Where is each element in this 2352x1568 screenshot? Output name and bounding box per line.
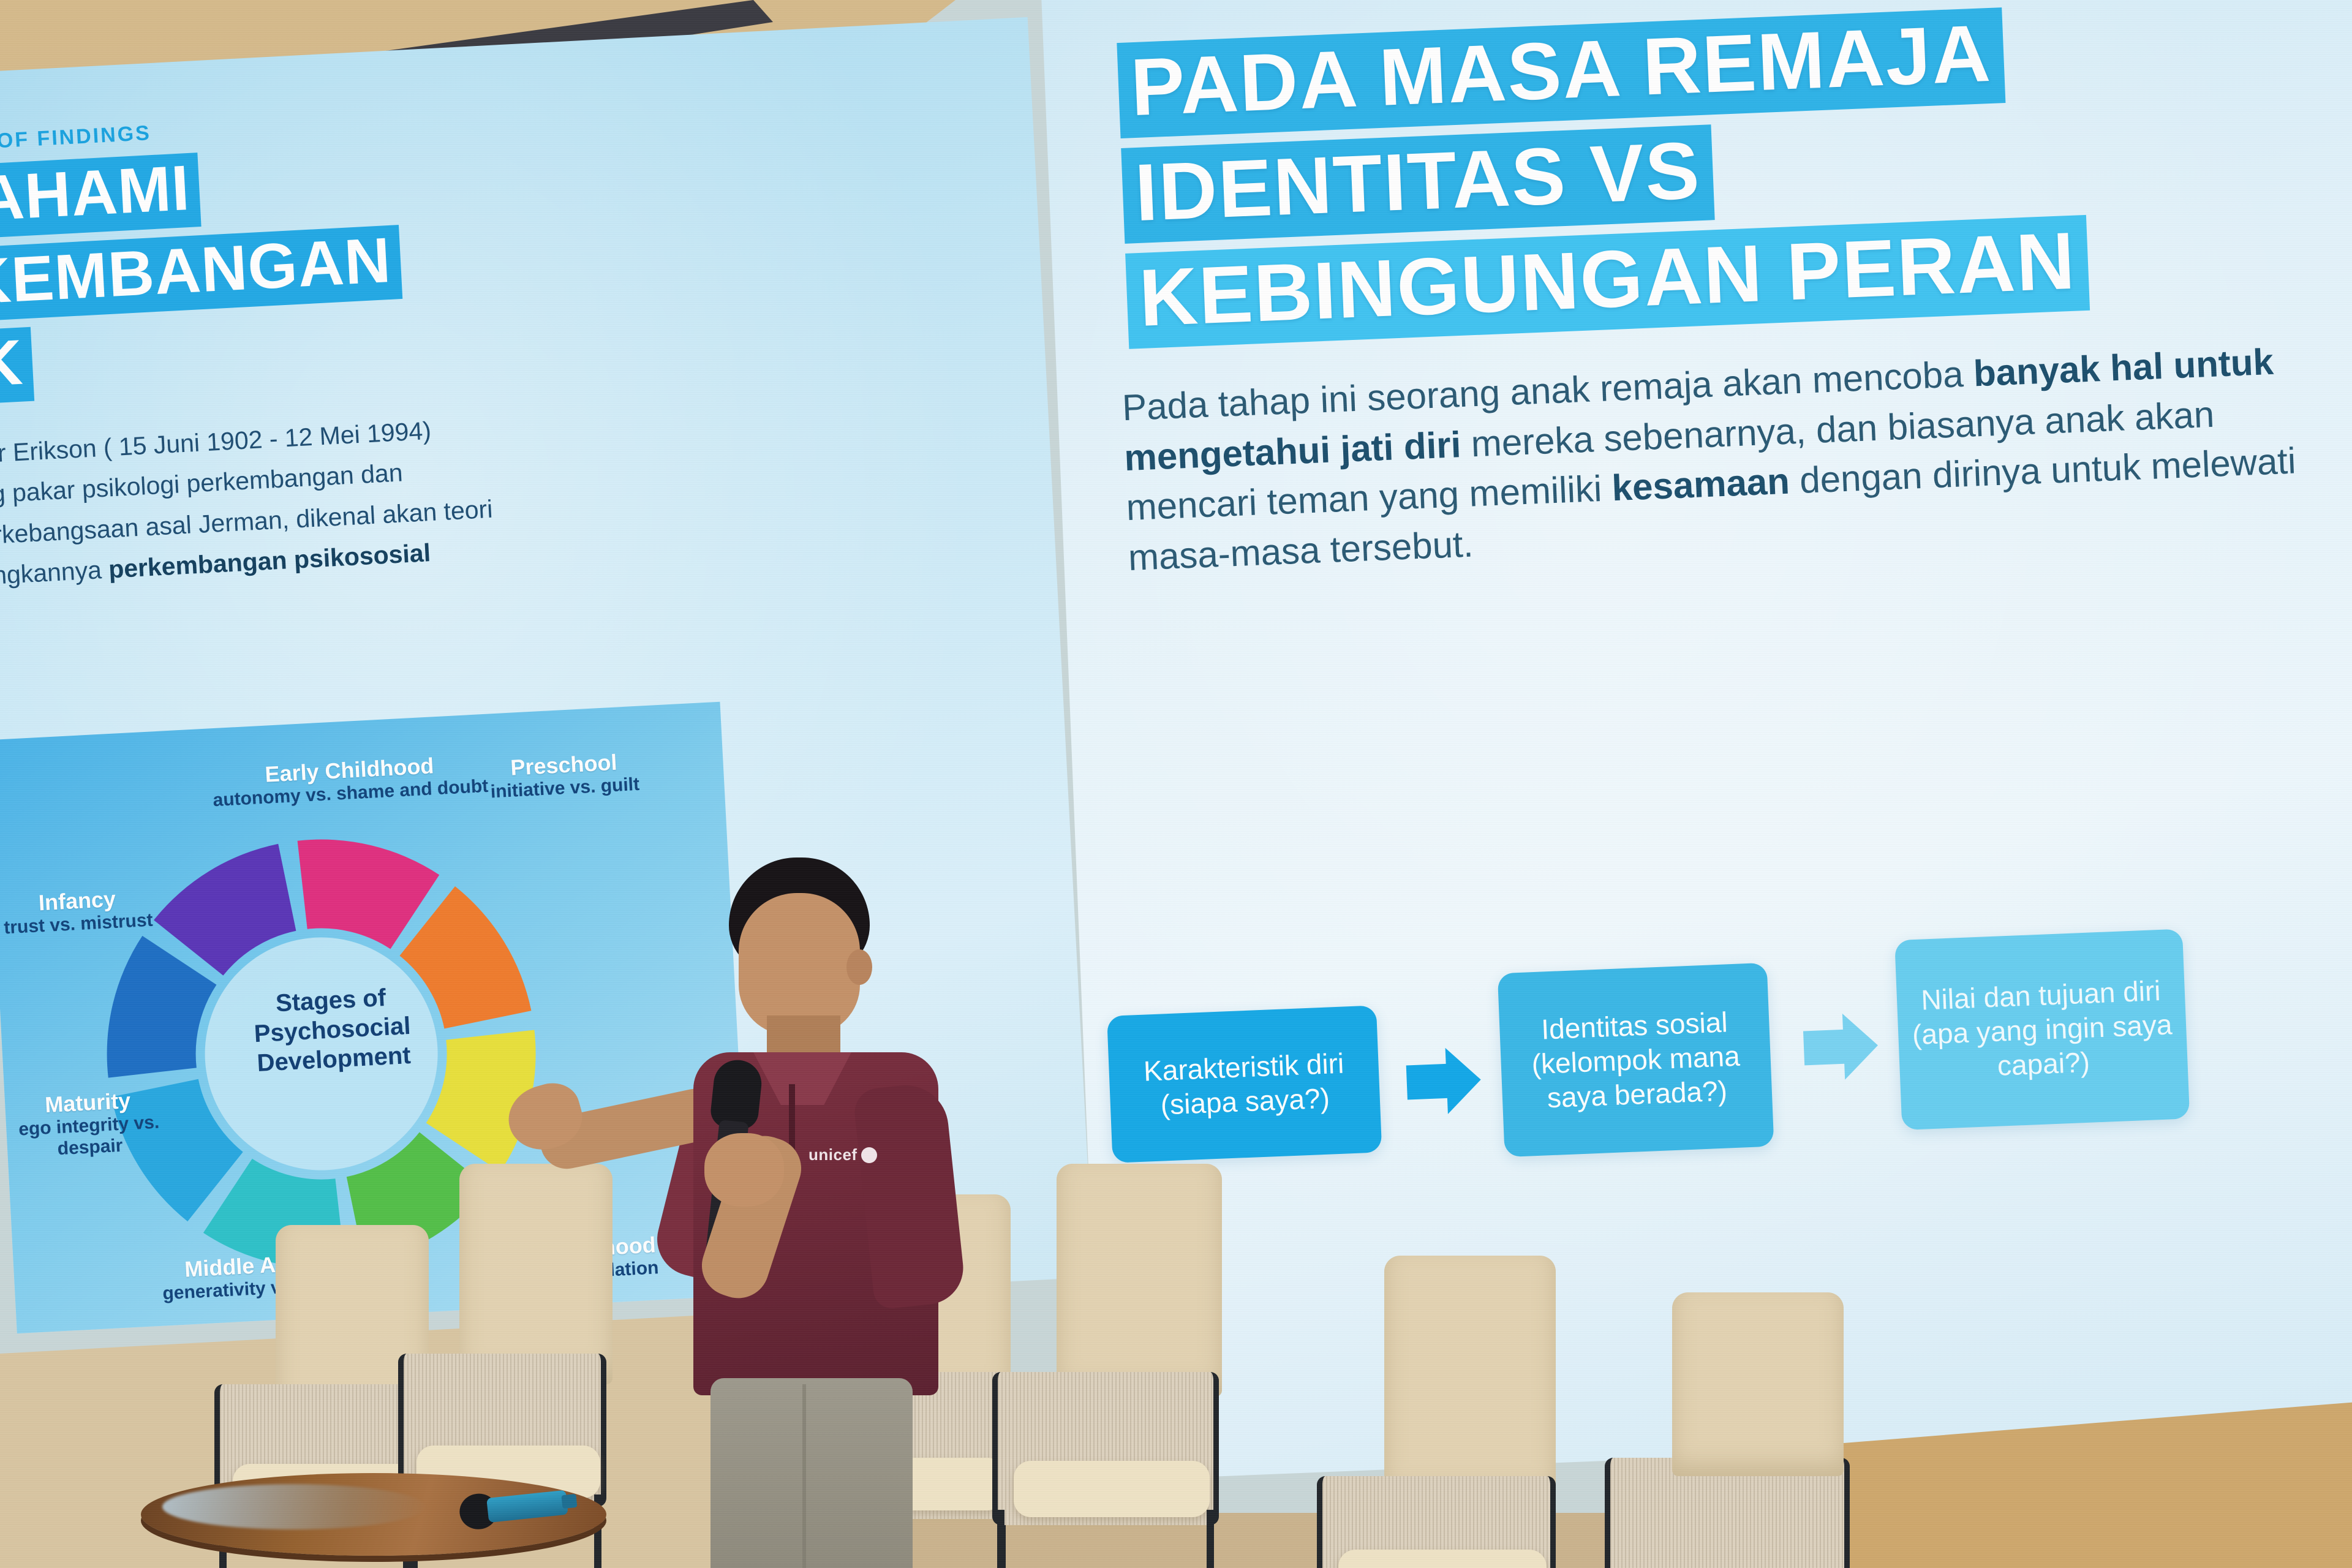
chair bbox=[1599, 1366, 1887, 1568]
table-reflection bbox=[162, 1484, 426, 1529]
chair-back bbox=[1384, 1256, 1556, 1501]
presenter-ear bbox=[846, 949, 872, 985]
arrow-right-icon-2 bbox=[1800, 1008, 1882, 1085]
identity-flow-diagram: Karakteristik diri (siapa saya?) Identit… bbox=[1104, 907, 2352, 1204]
presenter-trouser-seam bbox=[802, 1384, 806, 1568]
chair-back bbox=[1672, 1292, 1844, 1476]
presenter: unicef bbox=[625, 858, 1017, 1568]
chair-back bbox=[1057, 1164, 1222, 1396]
stage-label-infancy: Infancy trust vs. mistrust bbox=[0, 884, 165, 940]
unicef-logo: unicef bbox=[809, 1145, 877, 1164]
wheel-center-title: Stages of Psychosocial Development bbox=[202, 979, 463, 1081]
arrow-right-icon bbox=[1402, 1043, 1485, 1120]
side-table bbox=[141, 1473, 606, 1568]
right-slide-body: Pada tahap ini seorang anak remaja akan … bbox=[1121, 335, 2329, 583]
flow-box-nilai-dan-tujuan: Nilai dan tujuan diri (apa yang ingin sa… bbox=[1894, 929, 2190, 1130]
presenter-mic-hand bbox=[704, 1133, 784, 1207]
chair bbox=[1311, 1335, 1599, 1568]
presenter-face bbox=[739, 893, 860, 1035]
flow-box-identitas-sosial: Identitas sosial (kelompok mana saya ber… bbox=[1498, 963, 1774, 1157]
chair-back bbox=[459, 1164, 612, 1384]
left-title-line-3: ANAK bbox=[0, 327, 35, 412]
flow-box-karakteristik-diri: Karakteristik diri (siapa saya?) bbox=[1107, 1005, 1382, 1163]
stage-label-maturity: Maturity ego integrity vs. despair bbox=[1, 1086, 176, 1163]
left-slide-title: MEMAHAMI PERKEMBANGAN ANAK bbox=[0, 142, 407, 420]
presentation-room-photo: OVERVIEW OF FINDINGS MEMAHAMI PERKEMBANG… bbox=[0, 0, 2352, 1568]
unicef-emblem-icon bbox=[861, 1147, 877, 1163]
chair-cushion bbox=[1014, 1461, 1210, 1517]
left-slide-eyebrow: OVERVIEW OF FINDINGS bbox=[0, 121, 152, 160]
left-title-line-1: MEMAHAMI bbox=[0, 153, 202, 247]
chair-cushion bbox=[1338, 1550, 1547, 1568]
presenter-trousers bbox=[710, 1378, 913, 1568]
right-slide-title: PADA MASA REMAJA IDENTITAS VS KEBINGUNGA… bbox=[1117, 4, 2090, 359]
left-slide-body: Erik Homburger Erikson ( 15 Juni 1902 - … bbox=[0, 407, 500, 645]
chair-leg bbox=[1207, 1510, 1214, 1568]
chair bbox=[986, 1231, 1262, 1568]
